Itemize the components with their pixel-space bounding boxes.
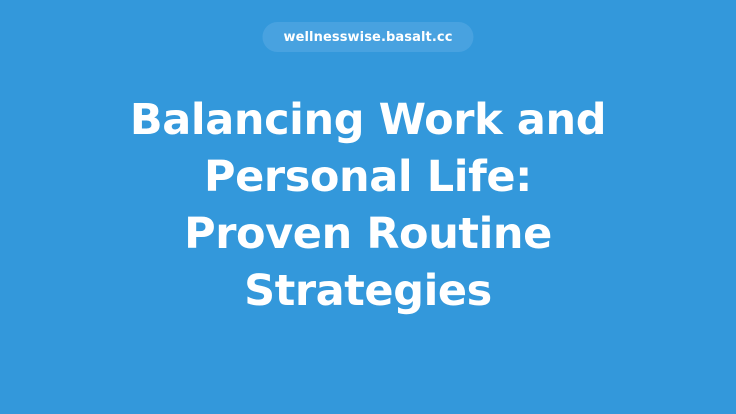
page-title-line-4: Strategies bbox=[40, 263, 696, 320]
site-url-label: wellnesswise.basalt.cc bbox=[283, 31, 452, 44]
page-title-line-2: Personal Life: bbox=[40, 149, 696, 206]
page-title-line-3: Proven Routine bbox=[40, 206, 696, 263]
page-title-line-1: Balancing Work and bbox=[40, 92, 696, 149]
site-url-badge[interactable]: wellnesswise.basalt.cc bbox=[262, 22, 473, 52]
social-share-card: wellnesswise.basalt.cc Balancing Work an… bbox=[0, 0, 736, 414]
page-title: Balancing Work and Personal Life: Proven… bbox=[0, 92, 736, 320]
